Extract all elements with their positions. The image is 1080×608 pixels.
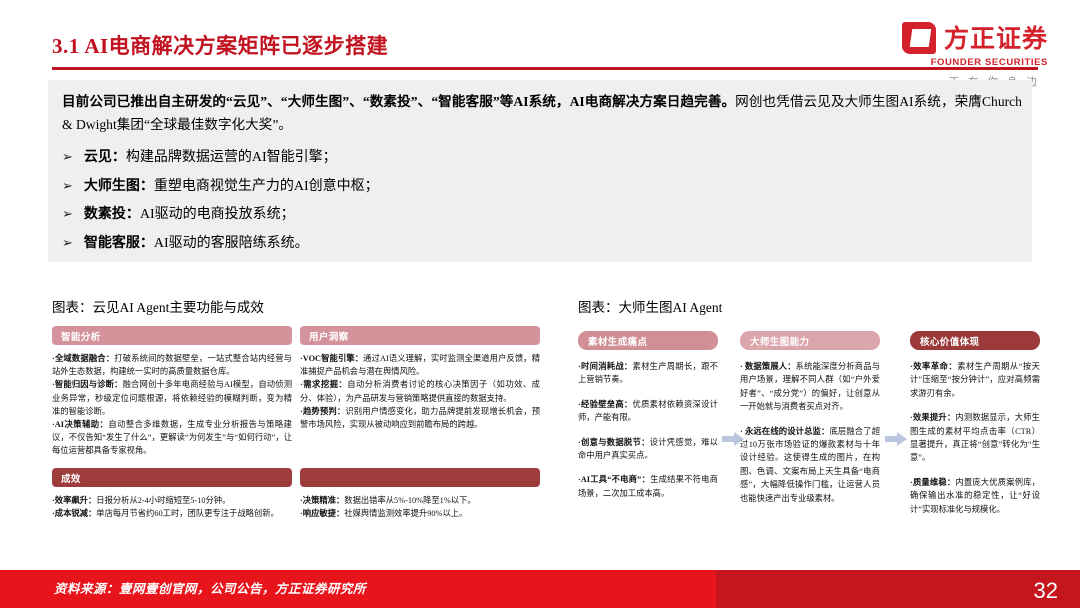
item-key: ·效果提升： bbox=[910, 413, 955, 422]
item-key: ·效率飙升： bbox=[52, 496, 96, 505]
logo-name-en: FOUNDER SECURITIES bbox=[931, 57, 1048, 68]
bullet-text: 数素投：AI驱动的电商投放系统； bbox=[84, 205, 295, 225]
figure-left-column-results-2: ·决策精准：数据出错率从5%-10%降至1%以下。 ·响应敏捷：社媒舆情监测效率… bbox=[300, 468, 540, 520]
figure-left-column-analysis: 智能分析 ·全域数据融合：打破系统间的数据壁垒，一站式整合站内经营与站外生态数据… bbox=[52, 326, 292, 458]
body-item: ·效果提升：内测数据显示，大师生图生成的素材平均点击率（CTR）显著提升，真正将… bbox=[910, 411, 1040, 465]
bullet-lead: 数素投： bbox=[84, 207, 140, 222]
figure-right-column-capability: 大师生图能力 · 数据策展人：系统能深度分析商品与用户场景，理解不同人群（如“户… bbox=[740, 331, 880, 516]
body-item: ·成本锐减：单店每月节省约60工时，团队更专注于战略创新。 bbox=[52, 507, 292, 520]
logo-row: 方正证券 bbox=[902, 22, 1048, 54]
list-item: ➢ 大师生图：重塑电商视觉生产力的AI创意中枢； bbox=[62, 177, 962, 197]
figure-right-column-painpoints: 素材生成痛点 ·时间消耗战：素材生产周期长，跟不上营销节奏。 ·经验壁垒高：优质… bbox=[578, 331, 718, 511]
logo-name-cn: 方正证券 bbox=[944, 26, 1048, 51]
intro-paragraph-bold: 目前公司已推出自主研发的“云见”、“大师生图”、“数素投”、“智能客服”等AI系… bbox=[62, 94, 735, 109]
bullet-arrow-icon: ➢ bbox=[62, 148, 73, 168]
figure-right-caption: 图表：大师生图AI Agent bbox=[578, 296, 722, 316]
body-item: ·全域数据融合：打破系统间的数据壁垒，一站式整合站内经营与站外生态数据，构建统一… bbox=[52, 352, 292, 378]
item-key: ·智能归因与诊断： bbox=[52, 380, 123, 389]
column-header: 素材生成痛点 bbox=[578, 331, 718, 350]
item-key: · 永远在线的设计总监： bbox=[740, 427, 829, 436]
item-text: 数据出错率从5%-10%降至1%以下。 bbox=[344, 496, 475, 505]
bullet-text: 云见：构建品牌数据运营的AI智能引擎； bbox=[84, 148, 337, 168]
body-item: ·AI工具“不电商”：生成结果不符电商场景，二次加工成本高。 bbox=[578, 473, 718, 500]
bullet-arrow-icon: ➢ bbox=[62, 205, 73, 225]
item-key: ·决策精准： bbox=[300, 496, 344, 505]
column-body: ·效率革命：素材生产周期从“按天计”压缩至“按分钟计”，应对高频需求游刃有余。 … bbox=[910, 360, 1040, 516]
bullet-lead: 大师生图： bbox=[84, 179, 154, 194]
bullet-lead: 云见： bbox=[84, 150, 126, 165]
item-text: 底层融合了超过10万张市场验证的爆款素材与十年设计经验。这使得生成的图片，在构图… bbox=[740, 427, 880, 503]
item-key: ·时间消耗战： bbox=[578, 362, 633, 371]
column-header bbox=[300, 468, 540, 487]
column-header: 大师生图能力 bbox=[740, 331, 880, 350]
right-arrow-icon bbox=[885, 432, 907, 446]
body-item: ·效率革命：素材生产周期从“按天计”压缩至“按分钟计”，应对高频需求游刃有余。 bbox=[910, 360, 1040, 400]
column-body: ·VOC智能引擎：通过AI语义理解，实时监测全渠道用户反馈，精准捕捉产品机会与潜… bbox=[300, 352, 540, 431]
body-item: ·智能归因与诊断：融合网创十多年电商经验与AI模型，自动侦测业务异常，秒级定位问… bbox=[52, 378, 292, 418]
body-item: ·VOC智能引擎：通过AI语义理解，实时监测全渠道用户反馈，精准捕捉产品机会与潜… bbox=[300, 352, 540, 378]
bullet-detail: 构建品牌数据运营的AI智能引擎； bbox=[126, 150, 337, 165]
column-header: 核心价值体现 bbox=[910, 331, 1040, 350]
item-key: ·响应敏捷： bbox=[300, 509, 344, 518]
founder-mark-icon bbox=[902, 22, 936, 54]
footer-source: 资料来源：壹网壹创官网，公司公告，方正证券研究所 bbox=[54, 578, 366, 597]
item-key: ·VOC智能引擎： bbox=[300, 354, 363, 363]
body-item: ·决策精准：数据出错率从5%-10%降至1%以下。 bbox=[300, 494, 540, 507]
bullet-detail: AI驱动的电商投放系统； bbox=[140, 207, 295, 222]
item-key: ·AI决策辅助： bbox=[52, 420, 108, 429]
item-key: ·质量维稳： bbox=[910, 478, 955, 487]
column-body: ·全域数据融合：打破系统间的数据壁垒，一站式整合站内经营与站外生态数据，构建统一… bbox=[52, 352, 292, 458]
footer-bar-right bbox=[716, 570, 1080, 608]
list-item: ➢ 智能客服：AI驱动的客服陪练系统。 bbox=[62, 234, 962, 254]
list-item: ➢ 数素投：AI驱动的电商投放系统； bbox=[62, 205, 962, 225]
intro-paragraph: 目前公司已推出自主研发的“云见”、“大师生图”、“数素投”、“智能客服”等AI系… bbox=[62, 90, 1022, 136]
item-key: ·全域数据融合： bbox=[52, 354, 114, 363]
item-key: ·需求挖掘： bbox=[300, 380, 347, 389]
bullet-lead: 智能客服： bbox=[84, 236, 154, 251]
item-key: ·AI工具“不电商”： bbox=[578, 475, 650, 484]
body-item: ·创意与数据脱节：设计凭感觉，难以命中用户真实买点。 bbox=[578, 436, 718, 463]
body-item: · 数据策展人：系统能深度分析商品与用户场景，理解不同人群（如“户外爱好者”、“… bbox=[740, 360, 880, 414]
bullet-arrow-icon: ➢ bbox=[62, 177, 73, 197]
column-body: ·决策精准：数据出错率从5%-10%降至1%以下。 ·响应敏捷：社媒舆情监测效率… bbox=[300, 494, 540, 520]
column-header: 智能分析 bbox=[52, 326, 292, 345]
item-key: ·效率革命： bbox=[910, 362, 957, 371]
list-item: ➢ 云见：构建品牌数据运营的AI智能引擎； bbox=[62, 148, 962, 168]
intro-bullet-list: ➢ 云见：构建品牌数据运营的AI智能引擎； ➢ 大师生图：重塑电商视觉生产力的A… bbox=[62, 148, 962, 262]
item-key: · 数据策展人： bbox=[740, 362, 796, 371]
figure-left-caption: 图表：云见AI Agent主要功能与成效 bbox=[52, 296, 264, 316]
item-text: 社媒舆情监测效率提升90%以上。 bbox=[344, 509, 467, 518]
company-logo: 方正证券 FOUNDER SECURITIES 正在你身边 bbox=[876, 22, 1048, 82]
bullet-text: 大师生图：重塑电商视觉生产力的AI创意中枢； bbox=[84, 177, 379, 197]
body-item: · 永远在线的设计总监：底层融合了超过10万张市场验证的爆款素材与十年设计经验。… bbox=[740, 425, 880, 505]
slide-page: 3.1 AI电商解决方案矩阵已逐步搭建 方正证券 FOUNDER SECURIT… bbox=[0, 0, 1080, 608]
body-item: ·时间消耗战：素材生产周期长，跟不上营销节奏。 bbox=[578, 360, 718, 387]
body-item: ·趋势预判：识别用户情感变化，助力品牌提前发现增长机会，预警市场风险，实现从被动… bbox=[300, 405, 540, 431]
item-text: 单店每月节省约60工时，团队更专注于战略创新。 bbox=[96, 509, 279, 518]
body-item: ·响应敏捷：社媒舆情监测效率提升90%以上。 bbox=[300, 507, 540, 520]
figure-right-column-value: 核心价值体现 ·效率革命：素材生产周期从“按天计”压缩至“按分钟计”，应对高频需… bbox=[910, 331, 1040, 527]
figure-left-column-insight: 用户洞察 ·VOC智能引擎：通过AI语义理解，实时监测全渠道用户反馈，精准捕捉产… bbox=[300, 326, 540, 431]
body-item: ·效率飙升：日报分析从2-4小时缩短至5-10分钟。 bbox=[52, 494, 292, 507]
bullet-text: 智能客服：AI驱动的客服陪练系统。 bbox=[84, 234, 309, 254]
page-number: 32 bbox=[1034, 578, 1058, 604]
column-body: ·时间消耗战：素材生产周期长，跟不上营销节奏。 ·经验壁垒高：优质素材依赖资深设… bbox=[578, 360, 718, 500]
bullet-arrow-icon: ➢ bbox=[62, 234, 73, 254]
page-title: 3.1 AI电商解决方案矩阵已逐步搭建 bbox=[52, 30, 388, 60]
column-header: 成效 bbox=[52, 468, 292, 487]
body-item: ·质量维稳：内置庞大优质案例库，确保输出水准的稳定性，让“好设计”实现标准化与规… bbox=[910, 476, 1040, 516]
item-key: ·创意与数据脱节： bbox=[578, 438, 650, 447]
item-text: 日报分析从2-4小时缩短至5-10分钟。 bbox=[96, 496, 230, 505]
column-header: 用户洞察 bbox=[300, 326, 540, 345]
figure-left-column-results: 成效 ·效率飙升：日报分析从2-4小时缩短至5-10分钟。 ·成本锐减：单店每月… bbox=[52, 468, 292, 520]
body-item: ·需求挖掘：自动分析消费者讨论的核心决策因子（如功效、成分、体验），为产品研发与… bbox=[300, 378, 540, 404]
body-item: ·AI决策辅助：自动整合多维数据，生成专业分析报告与策略建议，不仅告知“发生了什… bbox=[52, 418, 292, 458]
item-key: ·趋势预判： bbox=[300, 407, 345, 416]
item-key: ·经验壁垒高： bbox=[578, 400, 633, 409]
bullet-detail: AI驱动的客服陪练系统。 bbox=[154, 236, 309, 251]
column-body: ·效率飙升：日报分析从2-4小时缩短至5-10分钟。 ·成本锐减：单店每月节省约… bbox=[52, 494, 292, 520]
body-item: ·经验壁垒高：优质素材依赖资深设计师，产能有限。 bbox=[578, 398, 718, 425]
bullet-detail: 重塑电商视觉生产力的AI创意中枢； bbox=[154, 179, 379, 194]
item-key: ·成本锐减： bbox=[52, 509, 96, 518]
column-body: · 数据策展人：系统能深度分析商品与用户场景，理解不同人群（如“户外爱好者”、“… bbox=[740, 360, 880, 505]
